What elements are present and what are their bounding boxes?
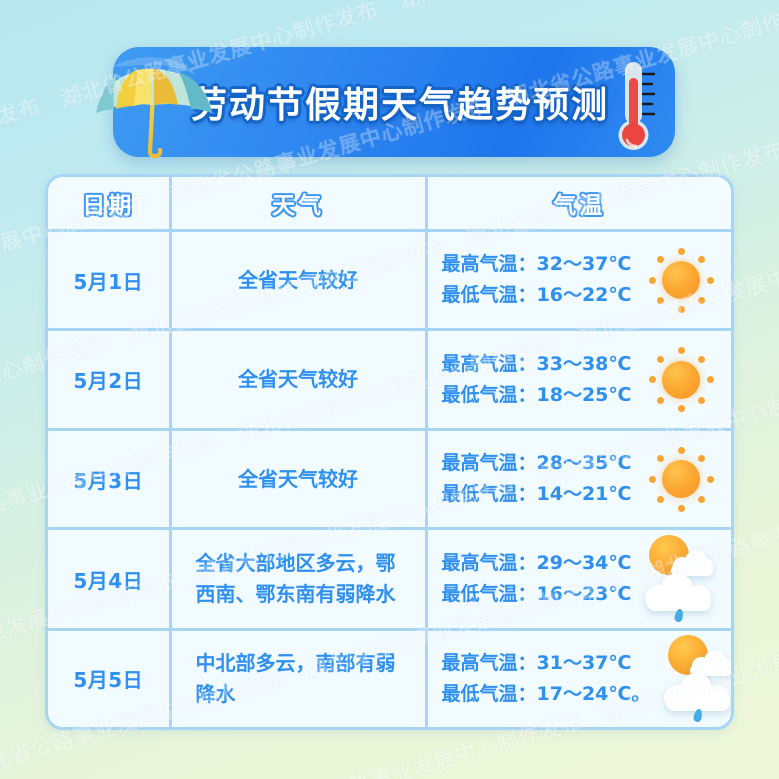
- temperature-block: 最高气温：32～37℃最低气温：16～22℃: [428, 232, 732, 328]
- temp-high: 最高气温：28～35℃: [442, 448, 632, 479]
- date-label: 5月3日: [73, 469, 143, 493]
- table-row: 5月2日全省天气较好最高气温：33～38℃最低气温：18～25℃: [48, 330, 731, 429]
- cell-weather: 全省大部地区多云，鄂西南、鄂东南有弱降水: [170, 529, 426, 629]
- table-row: 5月4日全省大部地区多云，鄂西南、鄂东南有弱降水最高气温：29～34℃最低气温：…: [48, 529, 731, 629]
- sun-ray: [657, 496, 664, 503]
- column-header-temp-label: 气温: [553, 193, 605, 219]
- sun-ray: [678, 347, 685, 354]
- sun-icon: [645, 444, 715, 514]
- column-header-weather-label: 天气: [272, 193, 324, 219]
- column-header-temp: 气温: [426, 177, 731, 231]
- sun-cloud-rain-icon: [639, 533, 721, 625]
- sun-ray: [657, 397, 664, 404]
- date-label: 5月5日: [73, 668, 143, 692]
- sun-ray: [698, 356, 705, 363]
- date-label: 5月2日: [73, 369, 143, 393]
- sun-ray: [657, 455, 664, 462]
- cell-temperature: 最高气温：29～34℃最低气温：16～23℃: [426, 529, 731, 629]
- weather-icon-container: [635, 232, 723, 328]
- thermometer-icon: [612, 58, 660, 154]
- sun-ray: [649, 277, 656, 284]
- temp-high: 最高气温：32～37℃: [442, 249, 632, 280]
- cell-temperature: 最高气温：31～37℃最低气温：17～24℃。: [426, 629, 731, 727]
- small-cloud: [688, 649, 732, 675]
- sun-ray: [678, 248, 685, 255]
- sun-ray: [657, 297, 664, 304]
- table-row: 5月3日全省天气较好最高气温：28～35℃最低气温：14～21℃: [48, 429, 731, 528]
- cell-weather: 全省天气较好: [170, 429, 426, 528]
- temperature-block: 最高气温：28～35℃最低气温：14～21℃: [428, 431, 732, 527]
- temp-high: 最高气温：29～34℃: [442, 548, 632, 579]
- weather-description: 全省天气较好: [238, 367, 358, 391]
- sun-cloud-rain-icon: [658, 633, 734, 725]
- weather-forecast-poster: 湖北省公路事业发展中心制作发布 湖北省公路事业发展中心制作发布 湖北省公路事业发…: [0, 0, 779, 779]
- sun-ray: [657, 256, 664, 263]
- sun-ray: [678, 306, 685, 313]
- sun-ray: [678, 405, 685, 412]
- sun-ray: [698, 455, 705, 462]
- cell-date: 5月5日: [48, 629, 170, 727]
- cell-temperature: 最高气温：32～37℃最低气温：16～22℃: [426, 231, 731, 330]
- sun-ray: [707, 376, 714, 383]
- temperature-block: 最高气温：33～38℃最低气温：18～25℃: [428, 331, 732, 427]
- beach-umbrella-icon: [92, 55, 218, 159]
- cell-date: 5月4日: [48, 529, 170, 629]
- weather-icon-container: [635, 331, 723, 427]
- temp-low: 最低气温：17～24℃。: [442, 679, 651, 710]
- table-header-row: 日期 天气 气温: [48, 177, 731, 231]
- temperature-lines: 最高气温：28～35℃最低气温：14～21℃: [442, 448, 632, 510]
- rain-cloud: [645, 573, 713, 611]
- sun-ray: [707, 476, 714, 483]
- temp-high: 最高气温：31～37℃: [442, 648, 651, 679]
- sun-icon: [645, 245, 715, 315]
- small-cloud: [669, 549, 713, 575]
- weather-icon-container: [635, 530, 723, 627]
- sun-ray: [698, 397, 705, 404]
- sun-icon: [645, 345, 715, 415]
- temp-low: 最低气温：16～22℃: [442, 280, 632, 311]
- column-header-date: 日期: [48, 177, 170, 231]
- temp-low: 最低气温：14～21℃: [442, 479, 632, 510]
- cell-weather: 全省天气较好: [170, 231, 426, 330]
- weather-description: 全省天气较好: [238, 268, 358, 292]
- sun-ray: [698, 496, 705, 503]
- cell-weather: 中北部多云，南部有弱降水: [170, 629, 426, 727]
- temp-low: 最低气温：16～23℃: [442, 579, 632, 610]
- table-body: 5月1日全省天气较好最高气温：32～37℃最低气温：16～22℃5月2日全省天气…: [48, 231, 731, 728]
- temperature-lines: 最高气温：33～38℃最低气温：18～25℃: [442, 349, 632, 411]
- temperature-block: 最高气温：31～37℃最低气温：17～24℃。: [428, 631, 732, 727]
- temp-low: 最低气温：18～25℃: [442, 380, 632, 411]
- sun-ray: [698, 256, 705, 263]
- table-row: 5月1日全省天气较好最高气温：32～37℃最低气温：16～22℃: [48, 231, 731, 330]
- temperature-block: 最高气温：29～34℃最低气温：16～23℃: [428, 530, 732, 627]
- sun-ray: [678, 447, 685, 454]
- table-head: 日期 天气 气温: [48, 177, 731, 231]
- cell-weather: 全省天气较好: [170, 330, 426, 429]
- temperature-lines: 最高气温：32～37℃最低气温：16～22℃: [442, 249, 632, 311]
- weather-description: 中北部多云，南部有弱降水: [196, 651, 396, 706]
- temperature-lines: 最高气温：31～37℃最低气温：17～24℃。: [442, 648, 651, 710]
- column-header-date-label: 日期: [82, 193, 134, 219]
- sun-ray: [698, 297, 705, 304]
- weather-icon-container: [635, 431, 723, 527]
- sun-ray: [657, 356, 664, 363]
- sun-ray: [678, 505, 685, 512]
- sun-ray: [707, 277, 714, 284]
- rain-cloud: [664, 673, 732, 711]
- weather-description: 全省大部地区多云，鄂西南、鄂东南有弱降水: [196, 551, 396, 606]
- cell-date: 5月3日: [48, 429, 170, 528]
- temperature-lines: 最高气温：29～34℃最低气温：16～23℃: [442, 548, 632, 610]
- date-label: 5月1日: [73, 270, 143, 294]
- table-row: 5月5日中北部多云，南部有弱降水最高气温：31～37℃最低气温：17～24℃。: [48, 629, 731, 727]
- forecast-table: 日期 天气 气温 5月1日全省天气较好最高气温：32～37℃最低气温：16～22…: [48, 177, 731, 727]
- page-title: 劳动节假期天气趋势预测: [191, 76, 609, 128]
- weather-description: 全省天气较好: [238, 467, 358, 491]
- sun-ray: [649, 376, 656, 383]
- sun-ray: [649, 476, 656, 483]
- forecast-table-container: 日期 天气 气温 5月1日全省天气较好最高气温：32～37℃最低气温：16～22…: [45, 174, 734, 730]
- cell-date: 5月2日: [48, 330, 170, 429]
- sun-disc: [662, 361, 700, 399]
- sun-disc: [662, 460, 700, 498]
- sun-disc: [662, 261, 700, 299]
- cell-temperature: 最高气温：28～35℃最低气温：14～21℃: [426, 429, 731, 528]
- weather-icon-container: [654, 631, 734, 727]
- temp-high: 最高气温：33～38℃: [442, 349, 632, 380]
- date-label: 5月4日: [73, 569, 143, 593]
- cell-temperature: 最高气温：33～38℃最低气温：18～25℃: [426, 330, 731, 429]
- cell-date: 5月1日: [48, 231, 170, 330]
- column-header-weather: 天气: [170, 177, 426, 231]
